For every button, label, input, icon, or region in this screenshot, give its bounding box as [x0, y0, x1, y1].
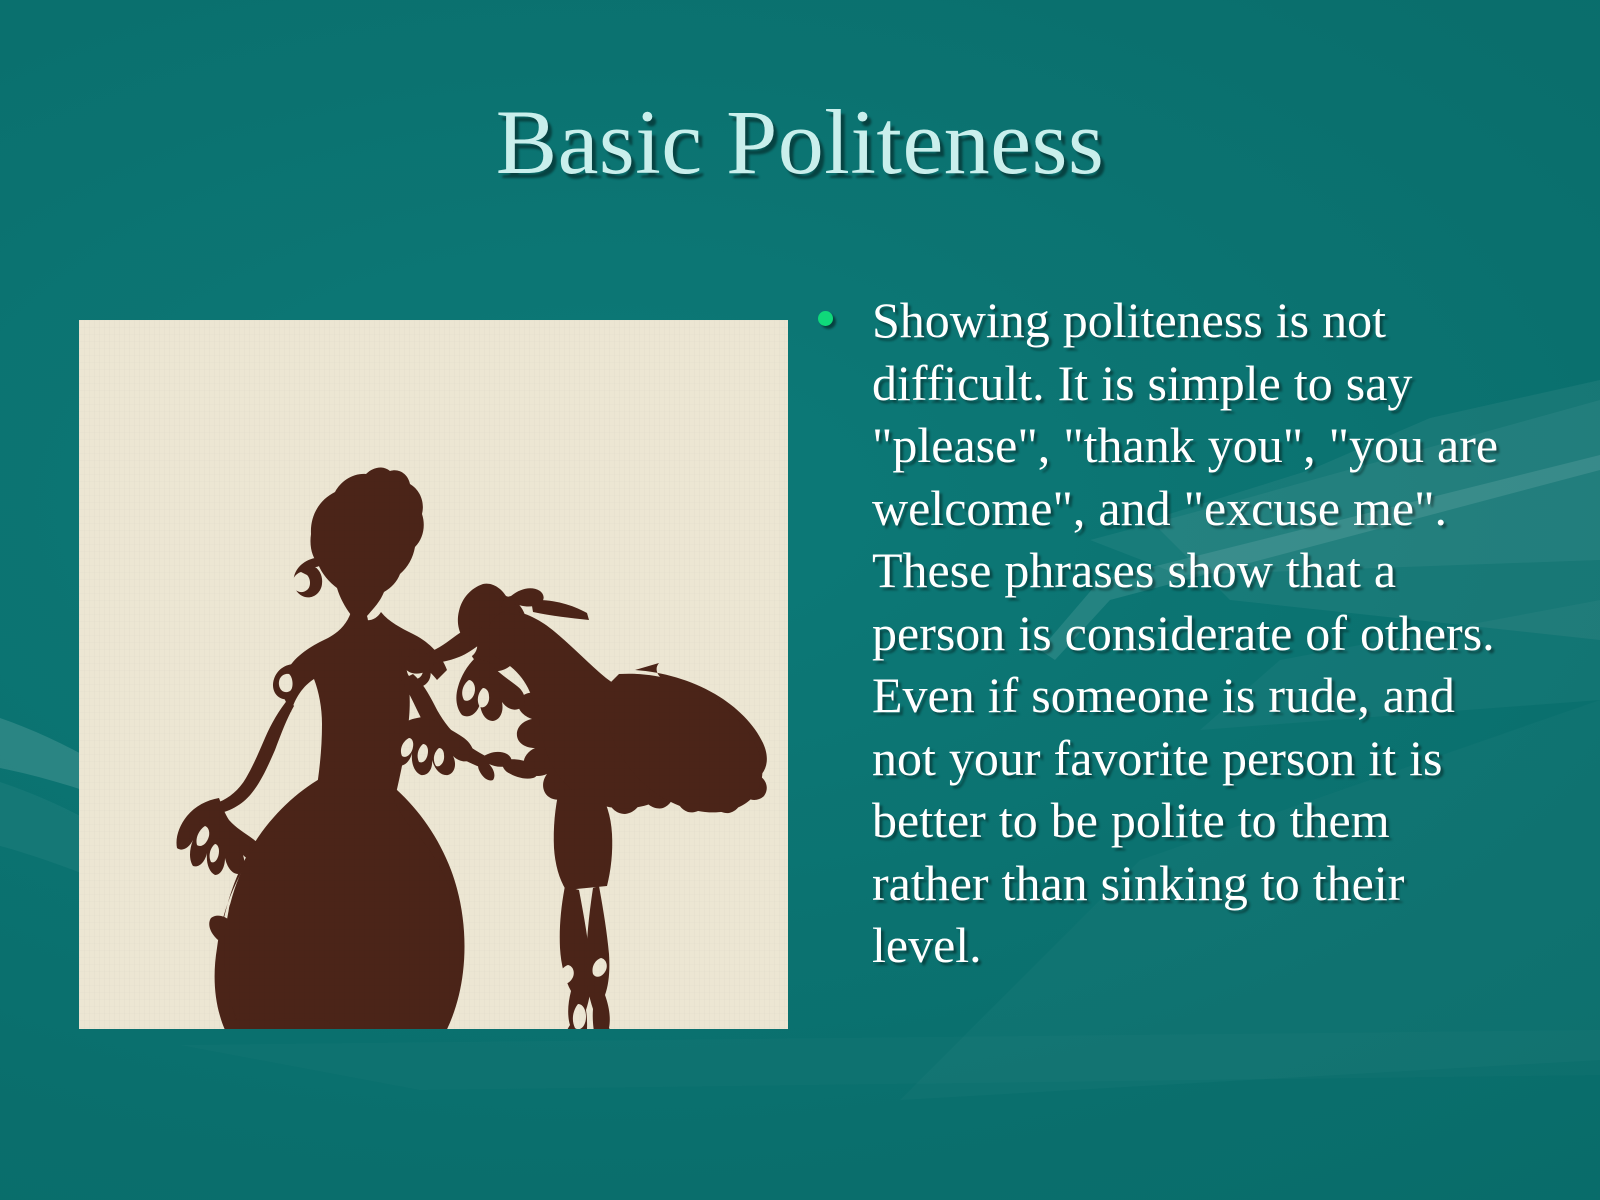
slide-title: Basic Politeness — [0, 96, 1600, 188]
bullet-point-icon — [818, 311, 833, 326]
bullet-list-item: Showing politeness is not difficult. It … — [818, 289, 1508, 977]
body-content-placeholder[interactable]: Showing politeness is not difficult. It … — [818, 289, 1508, 977]
bullet-item-text: Showing politeness is not difficult. It … — [872, 289, 1508, 977]
silhouette-picture — [79, 320, 788, 1029]
silhouette-artwork — [79, 320, 788, 1029]
slide-canvas: Basic Politeness — [0, 0, 1600, 1200]
